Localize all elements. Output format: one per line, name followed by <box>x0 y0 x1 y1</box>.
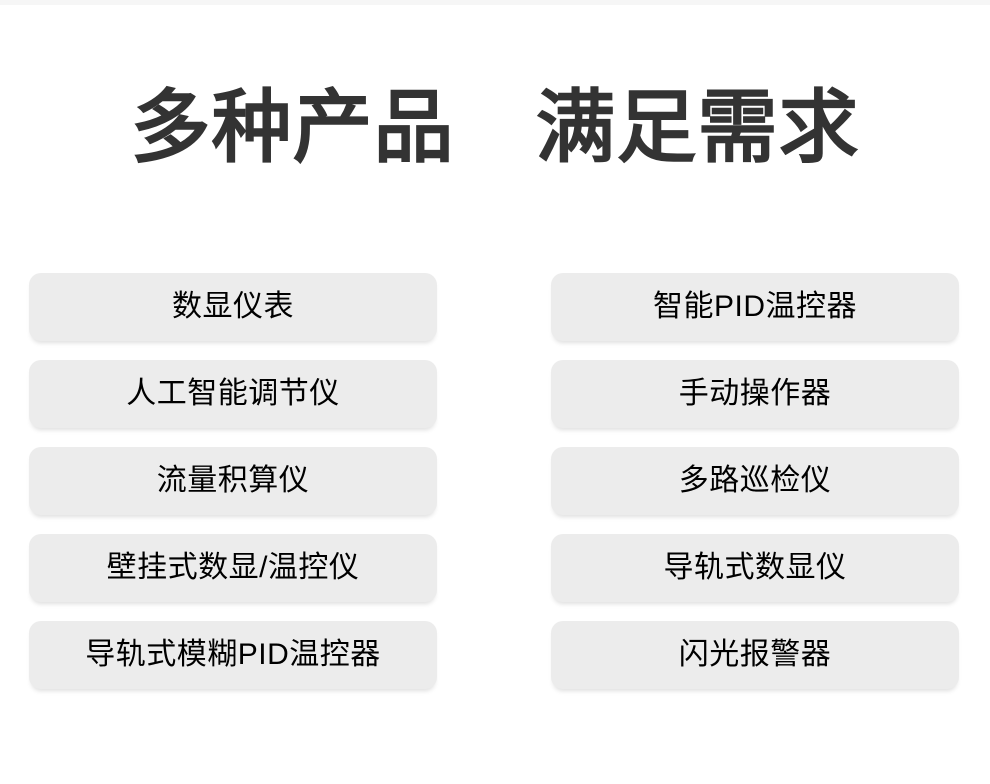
product-card[interactable]: 闪光报警器 <box>551 621 959 689</box>
product-card[interactable]: 导轨式模糊PID温控器 <box>29 621 437 689</box>
product-card[interactable]: 壁挂式数显/温控仪 <box>29 534 437 602</box>
product-card[interactable]: 导轨式数显仪 <box>551 534 959 602</box>
product-label: 多路巡检仪 <box>679 464 832 498</box>
product-column-right: 智能PID温控器 手动操作器 多路巡检仪 导轨式数显仪 闪光报警器 <box>551 273 959 689</box>
product-label: 壁挂式数显/温控仪 <box>107 551 360 585</box>
product-label: 手动操作器 <box>679 377 832 411</box>
product-label: 数显仪表 <box>172 290 294 324</box>
product-label: 闪光报警器 <box>679 638 832 672</box>
product-column-left: 数显仪表 人工智能调节仪 流量积算仪 壁挂式数显/温控仪 导轨式模糊PID温控器 <box>29 273 437 689</box>
product-label: 流量积算仪 <box>157 464 310 498</box>
product-label: 导轨式模糊PID温控器 <box>85 638 381 672</box>
product-card[interactable]: 多路巡检仪 <box>551 447 959 515</box>
product-card[interactable]: 手动操作器 <box>551 360 959 428</box>
product-label: 导轨式数显仪 <box>664 551 847 585</box>
top-divider-strip <box>0 0 990 5</box>
product-card[interactable]: 数显仪表 <box>29 273 437 341</box>
product-card[interactable]: 人工智能调节仪 <box>29 360 437 428</box>
product-category-page: 多种产品 满足需求 数显仪表 人工智能调节仪 流量积算仪 壁挂式数显/温控仪 导… <box>0 0 990 784</box>
product-card[interactable]: 智能PID温控器 <box>551 273 959 341</box>
product-label: 智能PID温控器 <box>653 290 857 324</box>
product-card[interactable]: 流量积算仪 <box>29 447 437 515</box>
product-label: 人工智能调节仪 <box>126 377 340 411</box>
product-list: 数显仪表 人工智能调节仪 流量积算仪 壁挂式数显/温控仪 导轨式模糊PID温控器… <box>29 273 959 693</box>
page-title: 多种产品 满足需求 <box>0 78 990 178</box>
